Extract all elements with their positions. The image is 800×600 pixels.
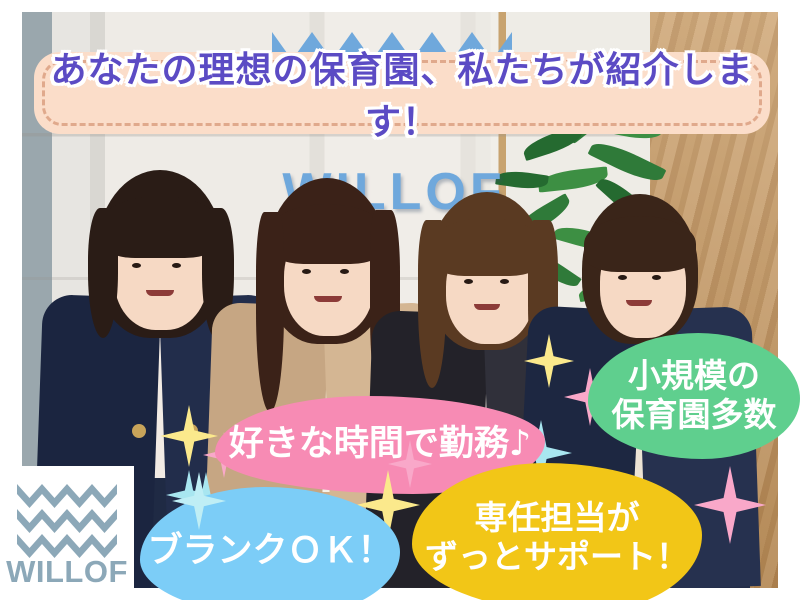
bubble-small-nursery-text: 小規模の 保育園多数 — [612, 357, 777, 435]
headline-banner: あなたの理想の保育園、私たちが紹介します！ — [34, 52, 770, 134]
willof-logo-badge[interactable]: WILLOF — [0, 466, 134, 600]
bubble-flexible-hours-text: 好きな時間で勤務♪ — [229, 424, 531, 465]
bubble-dedicated-support-text: 専任担当が ずっとサポート！ — [425, 499, 689, 577]
bubble-small-nursery[interactable]: 小規模の 保育園多数 — [588, 333, 800, 459]
bubble-line-1: 専任担当が — [475, 498, 640, 537]
bubble-line-2: ずっとサポート！ — [425, 537, 689, 576]
willof-zigzag-icon — [17, 482, 117, 558]
bubble-line-2: 保育園多数 — [612, 395, 777, 434]
poster-root: WILLOF — [0, 0, 800, 600]
bubble-line-1: 小規模の — [628, 356, 760, 395]
bubble-blank-ok-text: ブランクＯＫ！ — [147, 531, 392, 572]
headline-text: あなたの理想の保育園、私たちが紹介します！ — [34, 41, 770, 145]
willof-logo-text: WILLOF — [0, 554, 134, 590]
